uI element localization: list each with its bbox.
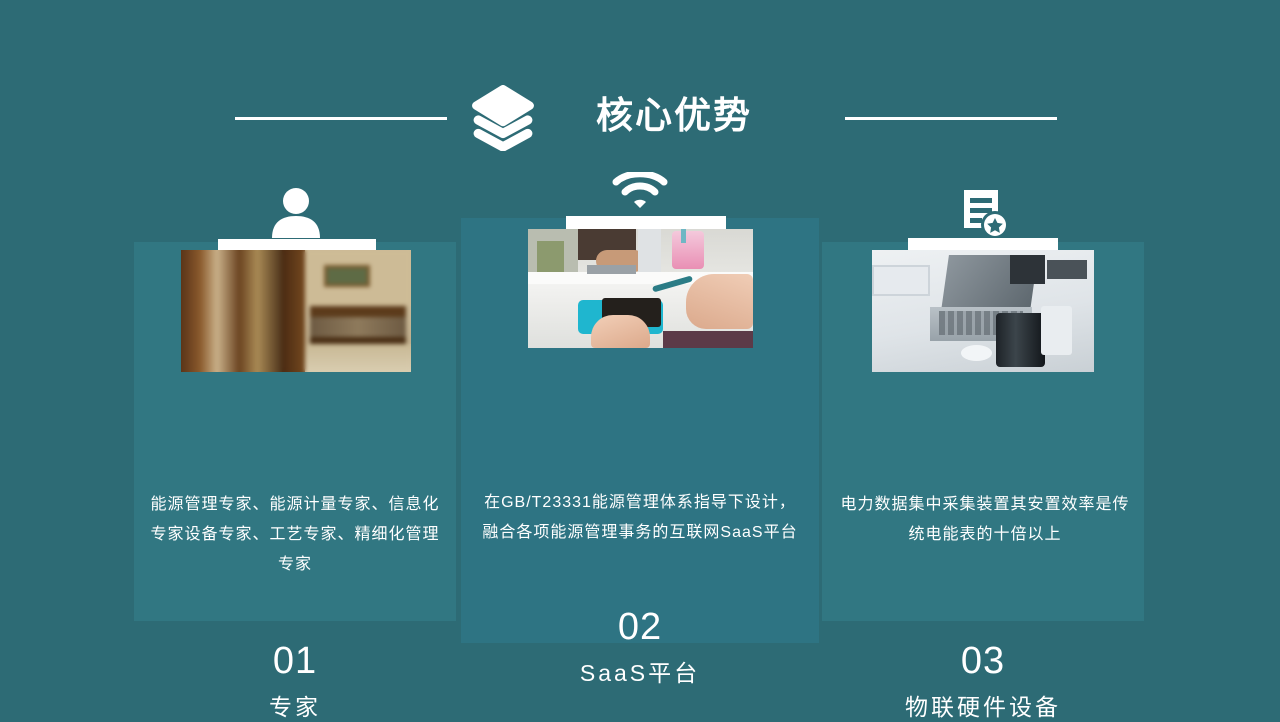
- card-subtitle: SaaS平台: [461, 658, 819, 688]
- card-number: 03: [822, 638, 1144, 684]
- header-rule-left: [235, 117, 447, 120]
- layers-stack-icon: [470, 85, 536, 151]
- header: 核心优势: [0, 40, 1280, 115]
- page-title: 核心优势: [596, 93, 752, 139]
- laptop-desk-photo: [872, 250, 1094, 372]
- slide-root: 核心优势 01 专家: [0, 0, 1280, 720]
- person-icon: [268, 186, 324, 238]
- certificate-star-icon: [958, 188, 1010, 240]
- card-01-body: 能源管理专家、能源计量专家、信息化专家设备专家、工艺专家、精细化管理专家: [150, 490, 440, 580]
- library-bookshelves-photo: [181, 250, 411, 372]
- card-03-body: 电力数据集中采集装置其安置效率是传统电能表的十倍以上: [840, 490, 1130, 550]
- card-number: 01: [134, 638, 456, 684]
- header-rule-right: [845, 117, 1057, 120]
- card-number: 02: [461, 604, 819, 650]
- card-02-body: 在GB/T23331能源管理体系指导下设计，融合各项能源管理事务的互联网SaaS…: [480, 488, 800, 548]
- wifi-icon: [612, 172, 668, 210]
- card-subtitle: 物联硬件设备: [822, 692, 1144, 722]
- meeting-tablet-desk-photo: [528, 229, 753, 348]
- card-subtitle: 专家: [134, 692, 456, 722]
